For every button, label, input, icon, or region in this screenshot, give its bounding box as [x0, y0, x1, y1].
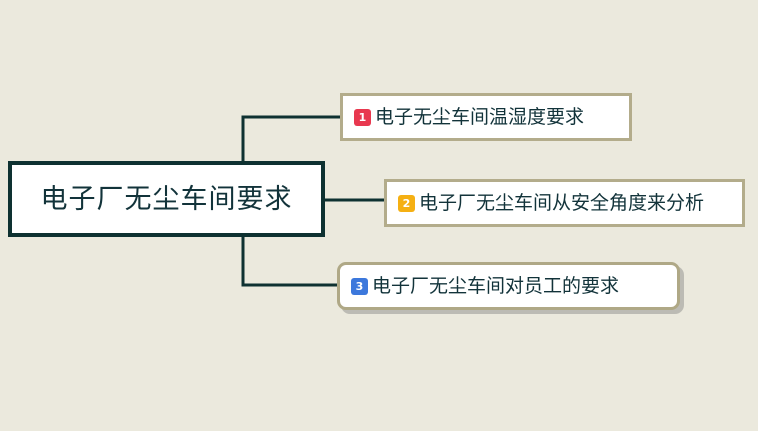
root-node-label: 电子厂无尘车间要求	[41, 186, 293, 213]
connector-root-to-branch-1	[243, 117, 340, 161]
branch-node-3[interactable]: 3 电子厂无尘车间对员工的要求	[337, 262, 680, 310]
branch-3-number-badge: 3	[351, 278, 368, 295]
branch-1-number-badge: 1	[354, 109, 371, 126]
root-node[interactable]: 电子厂无尘车间要求	[8, 161, 325, 237]
branch-node-2-label: 电子厂无尘车间从安全角度来分析	[419, 194, 704, 213]
branch-node-1[interactable]: 1 电子无尘车间温湿度要求	[340, 93, 632, 141]
branch-node-3-label: 电子厂无尘车间对员工的要求	[372, 277, 619, 296]
branch-node-2[interactable]: 2 电子厂无尘车间从安全角度来分析	[384, 179, 745, 227]
connector-root-to-branch-3	[243, 237, 337, 285]
branch-2-number-badge: 2	[398, 195, 415, 212]
mindmap-canvas: 电子厂无尘车间要求 1 电子无尘车间温湿度要求 2 电子厂无尘车间从安全角度来分…	[0, 0, 758, 431]
branch-node-1-label: 电子无尘车间温湿度要求	[375, 108, 584, 127]
